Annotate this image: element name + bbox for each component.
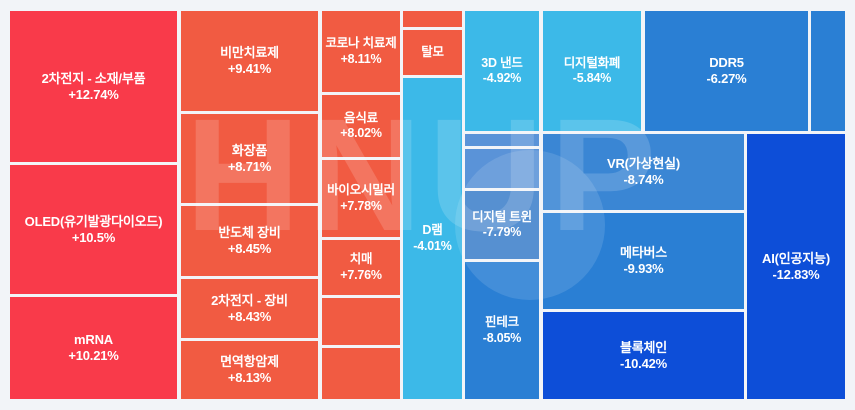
tile-label: 2차전지 - 장비 [211, 293, 288, 309]
treemap-tile-oled-유기발광다이오드[interactable]: OLED(유기발광다이오드)+10.5% [10, 165, 177, 294]
tile-label: 비만치료제 [220, 45, 279, 61]
treemap-tile-치매[interactable]: 치매+7.76% [322, 240, 400, 295]
tile-label: 메타버스 [620, 245, 667, 261]
treemap-tile-디지털-트윈[interactable]: 디지털 트윈-7.79% [465, 191, 539, 259]
tile-value: +10.21% [68, 348, 118, 364]
tile-label: OLED(유기발광다이오드) [25, 214, 163, 230]
tile-label: 코로나 치료제 [325, 36, 396, 51]
treemap-tile-unlabeled[interactable] [465, 149, 539, 188]
treemap-tile-2차전지-소재-부품[interactable]: 2차전지 - 소재/부품+12.74% [10, 11, 177, 162]
treemap-tile-화장품[interactable]: 화장품+8.71% [181, 114, 318, 203]
treemap-tile-코로나-치료제[interactable]: 코로나 치료제+8.11% [322, 11, 400, 92]
tile-label: VR(가상현실) [607, 156, 680, 172]
tile-label: DDR5 [709, 55, 744, 71]
treemap-tile-mrna[interactable]: mRNA+10.21% [10, 297, 177, 399]
treemap-tile-unlabeled[interactable] [322, 348, 400, 399]
tile-label: 탈모 [421, 45, 444, 60]
treemap-tile-탈모[interactable]: 탈모 [403, 30, 462, 75]
tile-value: -4.01% [413, 239, 451, 254]
treemap-tile-unlabeled[interactable] [465, 134, 539, 146]
treemap-tile-unlabeled[interactable] [811, 11, 845, 131]
tile-value: +7.76% [340, 268, 382, 283]
treemap-tile-면역항암제[interactable]: 면역항암제+8.13% [181, 341, 318, 399]
treemap-chart: 2차전지 - 소재/부품+12.74%OLED(유기발광다이오드)+10.5%m… [0, 0, 855, 410]
treemap-tile-비만치료제[interactable]: 비만치료제+9.41% [181, 11, 318, 111]
tile-value: -8.74% [624, 172, 664, 188]
tile-value: -6.27% [707, 71, 747, 87]
treemap-tile-핀테크[interactable]: 핀테크-8.05% [465, 262, 539, 399]
treemap-tile-음식료[interactable]: 음식료+8.02% [322, 95, 400, 157]
tile-value: +12.74% [68, 87, 118, 103]
tile-label: 면역항암제 [220, 354, 279, 370]
tile-label: 핀테크 [485, 315, 519, 330]
tile-value: +8.71% [228, 159, 271, 175]
treemap-tile-디지털화폐[interactable]: 디지털화폐-5.84% [543, 11, 641, 131]
tile-value: +8.13% [228, 370, 271, 386]
treemap-tile-바이오시밀러[interactable]: 바이오시밀러+7.78% [322, 160, 400, 237]
treemap-tile-반도체-장비[interactable]: 반도체 장비+8.45% [181, 206, 318, 276]
tile-label: D램 [422, 223, 442, 238]
tile-label: 디지털화폐 [564, 56, 621, 71]
tile-label: 2차전지 - 소재/부품 [42, 71, 146, 87]
treemap-tile-d램[interactable]: D램-4.01% [403, 78, 462, 399]
tile-value: -10.42% [620, 356, 667, 372]
tile-value: +8.02% [340, 126, 382, 141]
tile-value: +8.45% [228, 241, 271, 257]
tile-value: -7.79% [483, 225, 521, 240]
treemap-tile-2차전지-장비[interactable]: 2차전지 - 장비+8.43% [181, 279, 318, 338]
treemap-tile-블록체인[interactable]: 블록체인-10.42% [543, 312, 744, 399]
tile-value: -8.05% [483, 331, 521, 346]
tile-value: +8.11% [341, 52, 382, 67]
treemap-tile-ddr5[interactable]: DDR5-6.27% [645, 11, 808, 131]
tile-value: +7.78% [340, 199, 382, 214]
tile-value: -12.83% [772, 267, 819, 283]
tile-label: 디지털 트윈 [472, 210, 532, 225]
tile-value: -4.92% [483, 71, 521, 86]
tile-value: -5.84% [573, 71, 611, 86]
treemap-tile-vr-가상현실[interactable]: VR(가상현실)-8.74% [543, 134, 744, 210]
tile-label: 블록체인 [620, 340, 667, 356]
tile-value: +9.41% [228, 61, 271, 77]
tile-value: +8.43% [228, 309, 271, 325]
tile-label: 음식료 [344, 111, 378, 126]
tile-label: 화장품 [232, 143, 267, 159]
treemap-tile-unlabeled[interactable] [403, 11, 462, 27]
treemap-tile-ai-인공지능[interactable]: AI(인공지능)-12.83% [747, 134, 845, 399]
treemap-tile-unlabeled[interactable] [322, 298, 400, 345]
tile-value: +10.5% [72, 230, 115, 246]
tile-label: 3D 낸드 [481, 56, 522, 71]
treemap-tile-메타버스[interactable]: 메타버스-9.93% [543, 213, 744, 309]
tile-label: 반도체 장비 [218, 225, 280, 241]
tile-label: mRNA [74, 332, 113, 348]
tile-label: 치매 [350, 252, 373, 267]
treemap-tile-3d-낸드[interactable]: 3D 낸드-4.92% [465, 11, 539, 131]
tile-label: 바이오시밀러 [327, 183, 395, 198]
tile-value: -9.93% [624, 261, 664, 277]
tile-label: AI(인공지능) [762, 251, 830, 267]
